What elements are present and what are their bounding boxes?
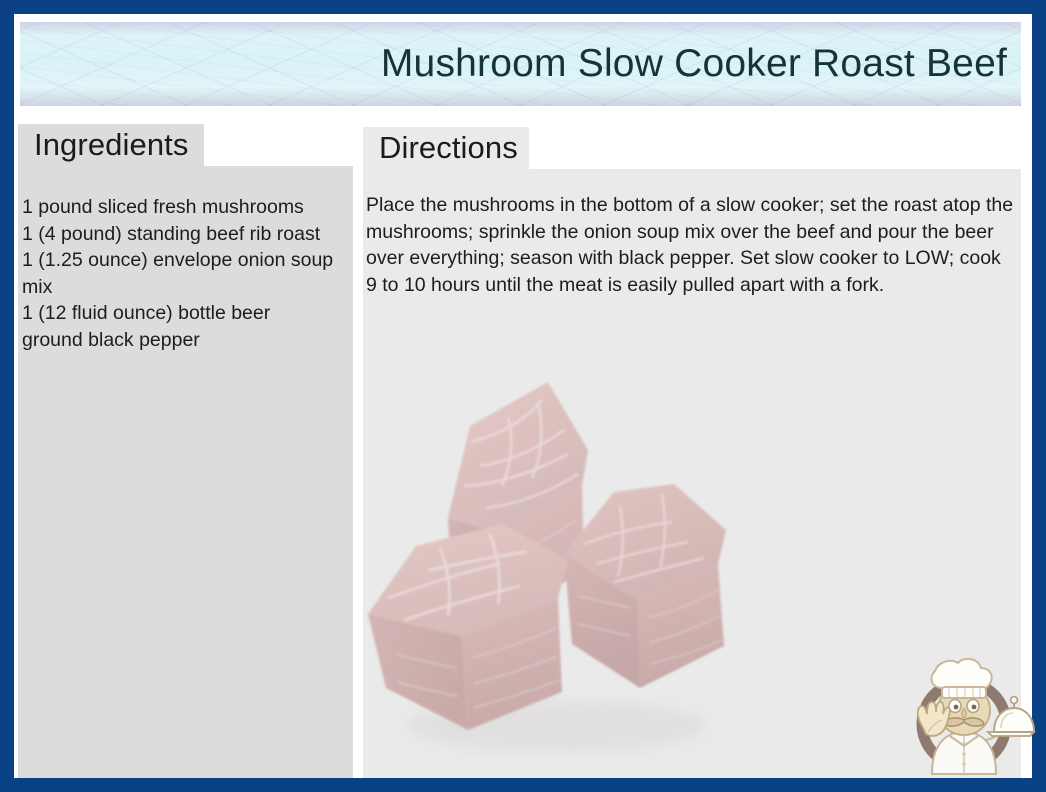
beef-cube-front bbox=[368, 524, 568, 730]
chef-logo-icon bbox=[902, 648, 1036, 778]
beef-photo bbox=[352, 358, 772, 778]
ingredient-item: 1 (1.25 ounce) envelope onion soup mix bbox=[22, 247, 358, 300]
ingredients-heading: Ingredients bbox=[34, 127, 188, 163]
title-banner: Mushroom Slow Cooker Roast Beef bbox=[20, 22, 1021, 106]
directions-heading: Directions bbox=[379, 130, 518, 166]
ingredient-item: 1 (4 pound) standing beef rib roast bbox=[22, 221, 358, 248]
beef-cube-right bbox=[564, 484, 726, 688]
ingredient-item: 1 (12 fluid ounce) bottle beer bbox=[22, 300, 358, 327]
page-title: Mushroom Slow Cooker Roast Beef bbox=[381, 42, 1007, 86]
ingredients-section-tab: Ingredients bbox=[18, 124, 204, 166]
chef-figure bbox=[918, 659, 1034, 774]
directions-section-tab: Directions bbox=[363, 127, 529, 169]
ingredient-item: 1 pound sliced fresh mushrooms bbox=[22, 194, 358, 221]
ingredient-item: ground black pepper bbox=[22, 327, 358, 354]
directions-text: Place the mushrooms in the bottom of a s… bbox=[366, 192, 1022, 298]
ingredients-list: 1 pound sliced fresh mushrooms 1 (4 poun… bbox=[22, 194, 358, 353]
page-frame: Mushroom Slow Cooker Roast Beef Ingredie… bbox=[0, 0, 1046, 792]
